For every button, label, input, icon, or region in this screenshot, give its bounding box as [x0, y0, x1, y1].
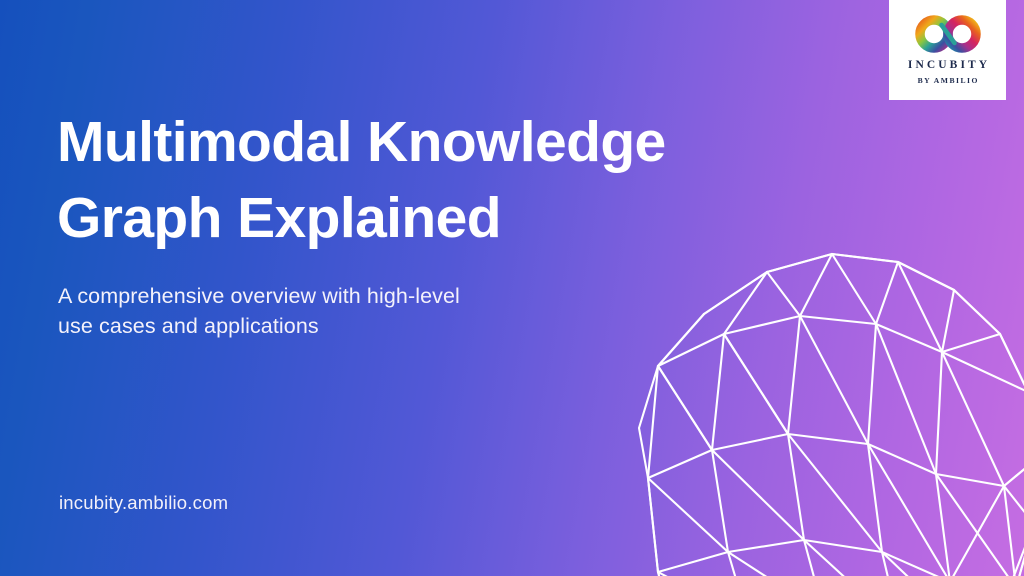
- slide-content: Multimodal Knowledge Graph Explained A c…: [57, 0, 757, 576]
- brand-logo-card: INCUBITY BY AMBILIO: [889, 0, 1006, 100]
- title-slide: Multimodal Knowledge Graph Explained A c…: [0, 0, 1024, 576]
- infinity-rings-icon: [915, 15, 981, 53]
- logo-subwordmark: BY AMBILIO: [916, 77, 979, 85]
- site-url-text: incubity.ambilio.com: [59, 492, 228, 514]
- logo-wordmark: INCUBITY: [905, 60, 990, 72]
- page-subtitle: A comprehensive overview with high-level…: [58, 281, 460, 341]
- page-title: Multimodal Knowledge Graph Explained: [57, 104, 666, 256]
